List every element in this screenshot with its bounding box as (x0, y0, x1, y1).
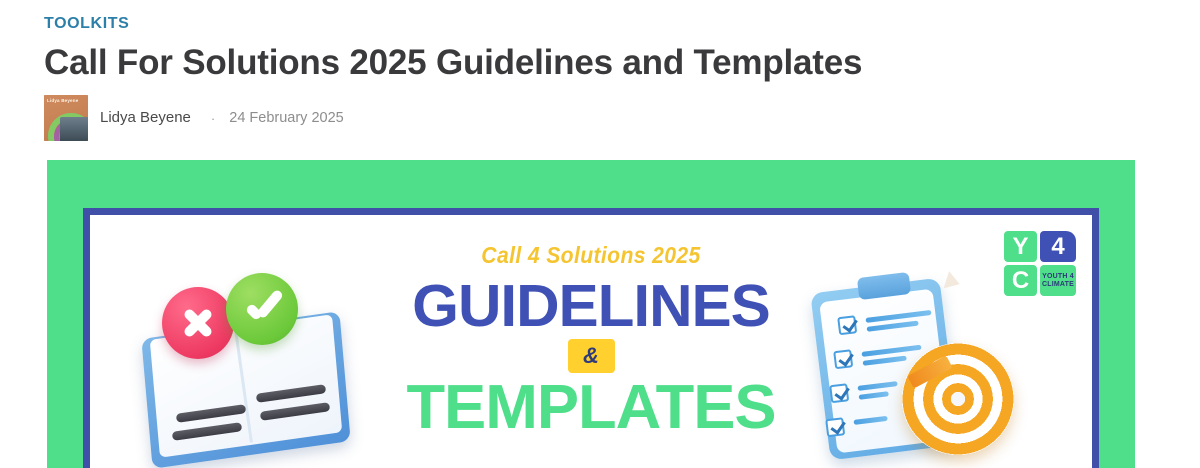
byline: Lidya Beyene Lidya Beyene · 24 February … (44, 95, 344, 141)
open-book-illustration (138, 267, 368, 468)
checkbox-icon (825, 417, 845, 437)
checklist-line (865, 310, 931, 323)
logo-cell-4: 4 (1040, 231, 1076, 262)
banner-headline-guidelines: GUIDELINES (351, 275, 830, 337)
checklist-line (859, 391, 889, 400)
ampersand-badge: & (568, 339, 615, 373)
banner-content: Call 4 Solutions 2025 GUIDELINES & TEMPL… (90, 215, 1092, 468)
cross-icon (162, 287, 234, 359)
youth4climate-logo: Y 4 C YOUTH 4 CLIMATE (1004, 231, 1076, 297)
clipboard-target-illustration (812, 267, 1022, 467)
checkbox-icon (833, 349, 853, 369)
banner-inner-frame: Call 4 Solutions 2025 GUIDELINES & TEMPL… (83, 208, 1099, 468)
logo-wordmark-line1: YOUTH 4 (1042, 273, 1074, 280)
publish-date: 24 February 2025 (229, 108, 343, 128)
banner-headline-templates: TEMPLATES (351, 376, 830, 440)
category-kicker[interactable]: TOOLKITS (44, 14, 1144, 34)
dart-fletching-icon (944, 271, 963, 292)
avatar[interactable]: Lidya Beyene (44, 95, 88, 141)
avatar-photo (60, 117, 88, 141)
article-page: TOOLKITS Call For Solutions 2025 Guideli… (0, 0, 1200, 468)
checkmark-icon (226, 273, 298, 345)
logo-letter-c: C (1004, 265, 1037, 296)
logo-cell-c: C (1004, 265, 1037, 296)
byline-separator: · (211, 111, 215, 126)
author-name[interactable]: Lidya Beyene (100, 108, 191, 128)
checklist-line (853, 416, 887, 425)
logo-cell-wordmark: YOUTH 4 CLIMATE (1040, 265, 1076, 296)
banner-text-block: Call 4 Solutions 2025 GUIDELINES & TEMPL… (356, 241, 826, 440)
checkbox-icon (837, 315, 857, 335)
logo-letter-4: 4 (1040, 231, 1076, 262)
checklist-line (861, 345, 921, 357)
article-banner-image: Call 4 Solutions 2025 GUIDELINES & TEMPL… (47, 160, 1135, 468)
logo-wordmark: YOUTH 4 CLIMATE (1040, 265, 1076, 296)
avatar-label: Lidya Beyene (47, 98, 78, 104)
target-bullseye-icon (902, 343, 1014, 455)
page-title: Call For Solutions 2025 Guidelines and T… (44, 42, 1144, 84)
logo-wordmark-line2: CLIMATE (1042, 281, 1074, 288)
article-header: TOOLKITS Call For Solutions 2025 Guideli… (44, 14, 1144, 84)
checkbox-icon (829, 383, 849, 403)
logo-cell-y: Y (1004, 231, 1037, 262)
logo-letter-y: Y (1004, 231, 1037, 262)
checklist-line (857, 381, 897, 391)
banner-eyebrow: Call 4 Solutions 2025 (375, 241, 807, 269)
